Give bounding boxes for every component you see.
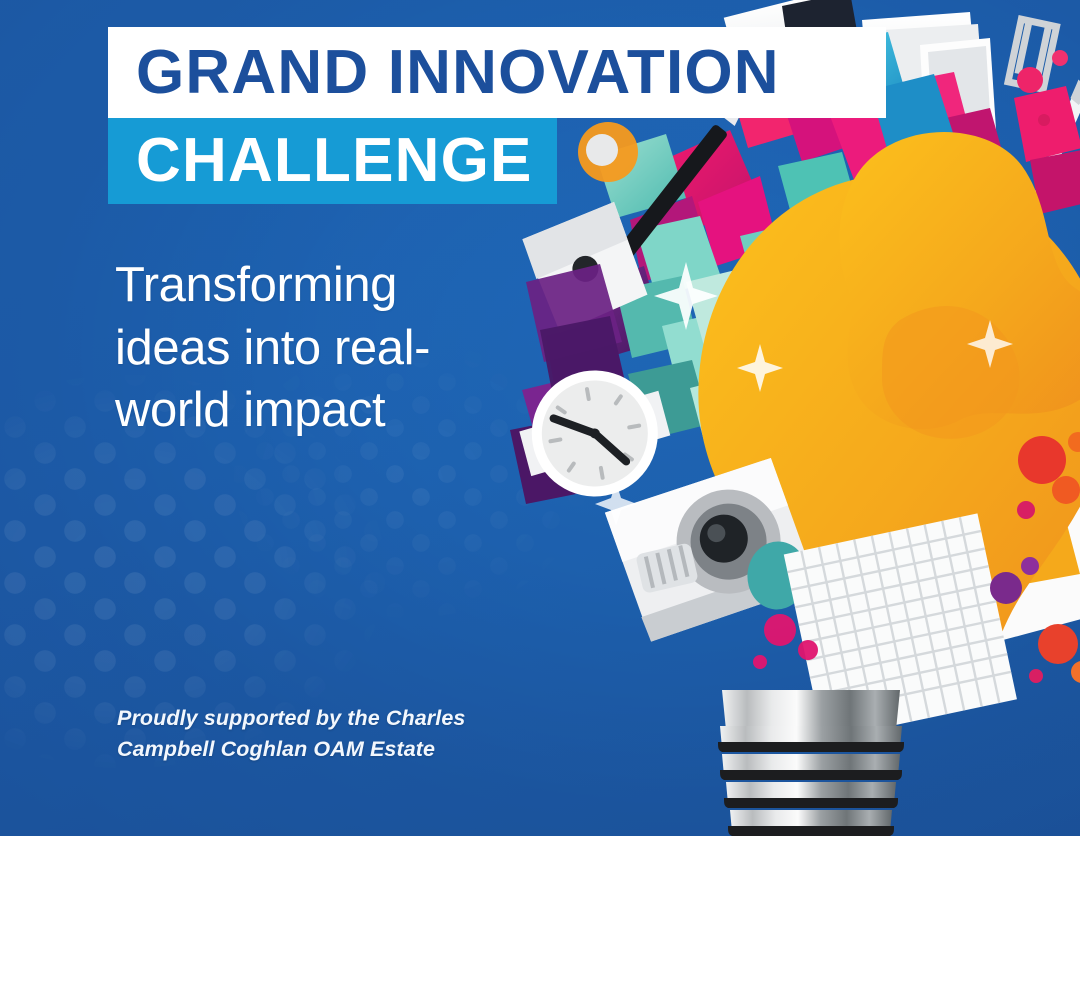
hero-panel: GRAND INNOVATION CHALLENGE Transforming …: [0, 0, 1080, 836]
partners-footer: Our partners: MEDTECH CØMPASS MTAA Medic…: [0, 836, 1080, 1000]
supporter-credit-line-1: Proudly supported by the Charles: [117, 703, 537, 734]
supporter-credit-line-2: Campbell Coghlan OAM Estate: [117, 734, 537, 765]
bulb-base: [718, 690, 904, 836]
title-line-2: CHALLENGE: [136, 130, 533, 192]
supporter-credit: Proudly supported by the Charles Campbel…: [117, 703, 537, 764]
poster-root: GRAND INNOVATION CHALLENGE Transforming …: [0, 0, 1080, 1000]
title-bar-primary: GRAND INNOVATION: [108, 27, 886, 118]
title-line-1: GRAND INNOVATION: [136, 42, 780, 104]
poster-subtitle: Transforming ideas into real-world impac…: [115, 254, 515, 442]
title-bar-secondary: CHALLENGE: [108, 118, 557, 204]
